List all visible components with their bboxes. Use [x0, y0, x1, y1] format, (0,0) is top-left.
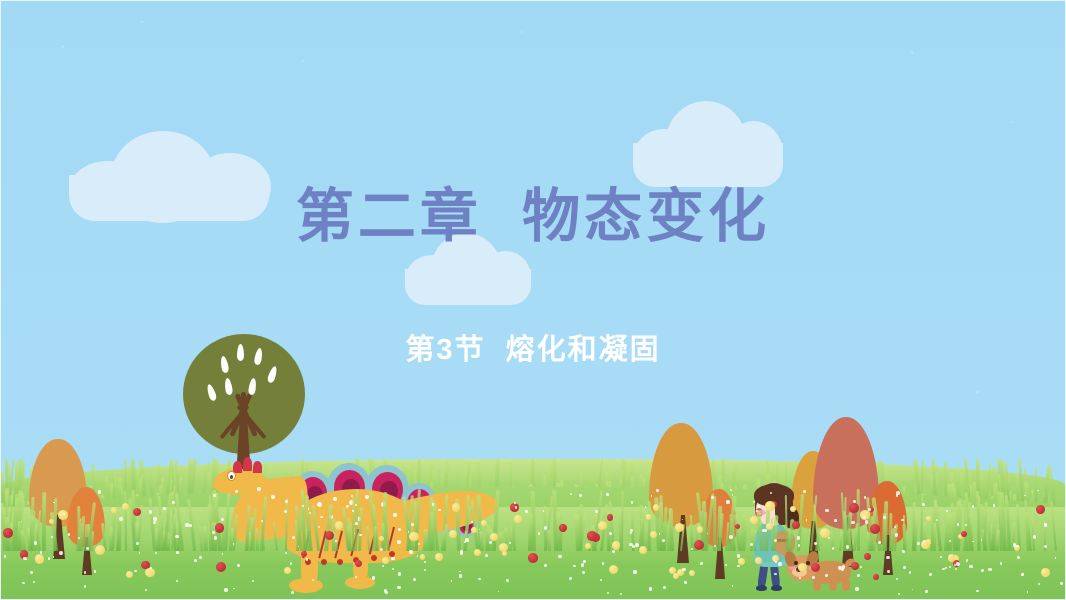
grass-sparkle	[372, 576, 376, 580]
grass-berry	[481, 520, 487, 526]
girl-shoe	[756, 585, 767, 591]
grass-sparkle	[155, 552, 157, 554]
grass-blade	[1016, 504, 1021, 551]
grass-sparkle	[1000, 562, 1003, 565]
grass-blade	[1024, 512, 1030, 551]
grass-berry	[284, 567, 291, 574]
grass-sparkle	[756, 510, 758, 512]
grass-berry	[697, 526, 704, 533]
grass-sparkle	[570, 493, 572, 495]
grass-sparkle	[1044, 545, 1048, 549]
grass-sparkle	[290, 562, 293, 565]
grass-sparkle	[48, 557, 50, 559]
grass-sparkle	[969, 565, 973, 569]
grass-sparkle	[397, 540, 400, 543]
grass-sparkle	[509, 542, 511, 544]
grass-berry	[1041, 568, 1050, 577]
grass-blade	[547, 530, 550, 551]
dino-crest	[243, 457, 252, 471]
grass-sparkle	[352, 510, 354, 512]
grass-sparkle	[825, 574, 828, 577]
grass-berry	[3, 528, 13, 538]
grass-blade	[713, 496, 716, 551]
grass-sparkle	[312, 579, 314, 581]
grass-sparkle	[1016, 545, 1019, 548]
grass-sparkle	[525, 510, 528, 513]
grass-sparkle	[214, 536, 217, 539]
grass-sparkle	[630, 532, 632, 534]
grass-sparkle	[656, 489, 659, 492]
grass-berry	[765, 501, 775, 511]
title-block: 第二章 物态变化	[1, 187, 1065, 248]
grass-sparkle	[292, 536, 295, 539]
grass-berry	[587, 531, 596, 540]
grass-berry	[639, 546, 647, 554]
grass-blade	[785, 495, 788, 551]
grass-sparkle	[633, 570, 637, 574]
grass-berry	[811, 563, 820, 572]
grass-sparkle	[635, 543, 639, 547]
grass-berry	[926, 539, 932, 545]
grass-sparkle	[221, 518, 224, 521]
grass-berry	[790, 506, 796, 512]
grass-sparkle	[595, 510, 598, 513]
grass-sparkle	[898, 593, 900, 595]
grass-sparkle	[956, 562, 960, 566]
main-title: 第二章 物态变化	[1, 187, 1065, 248]
grass-berry	[449, 530, 457, 538]
grass-berry	[111, 507, 117, 513]
grass-sparkle	[424, 561, 426, 563]
dino-foot	[289, 578, 323, 593]
grass-sparkle	[764, 529, 767, 532]
grass-blade	[754, 530, 757, 551]
grass-berry	[961, 531, 967, 537]
grass-sparkle	[1033, 535, 1037, 539]
sky-speck	[141, 21, 143, 23]
grass-sparkle	[903, 566, 906, 569]
grass-berry	[379, 536, 385, 542]
sky-speck	[61, 45, 64, 48]
grass-blade	[528, 513, 533, 551]
grass-sparkle	[886, 556, 890, 560]
grass-sparkle	[865, 520, 869, 524]
grass-sparkle	[459, 574, 462, 577]
dino-quill-tip	[321, 559, 327, 565]
grass-sparkle	[757, 505, 760, 508]
grass-blade	[255, 528, 259, 551]
grass-sparkle	[134, 570, 137, 573]
grass-sparkle	[612, 550, 615, 553]
grass-sparkle	[199, 556, 202, 559]
grass-berry	[559, 524, 567, 532]
grass-sparkle	[912, 589, 914, 591]
grass-blade	[42, 492, 46, 551]
grass-berry	[409, 532, 419, 542]
grass-sparkle	[59, 551, 63, 555]
grass-sparkle	[285, 552, 287, 554]
grass-berry	[435, 553, 443, 561]
grass-sparkle	[1024, 495, 1026, 497]
grass-sparkle	[22, 582, 25, 585]
grass-sparkle	[799, 577, 801, 579]
grass-sparkle	[33, 581, 35, 583]
grass-sparkle	[459, 571, 460, 572]
grass-blade	[1050, 501, 1057, 551]
grass-berry	[35, 554, 45, 564]
grass-sparkle	[544, 526, 548, 530]
grass-blade	[203, 526, 208, 551]
grass-berry	[95, 545, 105, 555]
grass-sparkle	[878, 541, 881, 544]
grass-sparkle	[573, 565, 575, 567]
grass-sparkle	[424, 569, 426, 571]
grass-sparkle	[857, 574, 860, 577]
grass-sparkle	[714, 545, 716, 547]
grass-blade	[358, 507, 362, 551]
grass-sparkle	[798, 544, 801, 547]
grass-sparkle	[925, 590, 928, 593]
grass-sparkle	[409, 550, 413, 554]
grass-berry	[948, 554, 955, 561]
grass-sparkle	[359, 534, 361, 536]
grass-sparkle	[335, 540, 337, 542]
grass-sparkle	[957, 523, 959, 525]
grass-sparkle	[620, 593, 622, 595]
dog-eye	[806, 561, 810, 565]
dog-cheek	[789, 566, 796, 570]
grass-sparkle	[684, 581, 687, 584]
grass-sparkle	[860, 566, 862, 568]
grass-blade	[117, 507, 121, 551]
grass-blade	[970, 514, 973, 551]
sky-speck	[521, 31, 523, 33]
grass-sparkle	[711, 496, 714, 499]
grass-berry	[585, 543, 591, 549]
grass-sparkle	[233, 588, 235, 590]
grass-berry	[650, 531, 657, 538]
grass-sparkle	[1017, 556, 1019, 558]
grass-blade	[882, 513, 887, 551]
grass-blade	[479, 530, 484, 551]
grass-berry	[471, 527, 477, 533]
grass-sparkle	[581, 563, 584, 566]
grass-blade	[20, 530, 26, 551]
grass-sparkle	[119, 517, 123, 521]
grass-blade	[647, 501, 650, 551]
presentation-slide: 第二章 物态变化 第3节 熔化和凝固	[0, 0, 1066, 600]
dino-quill-tip	[337, 559, 343, 565]
grass-blade	[367, 525, 371, 551]
grass-blades-front	[1, 489, 1066, 551]
sky-speck	[911, 51, 914, 54]
grass-sparkle	[797, 536, 800, 539]
grass-sparkle	[1013, 543, 1017, 547]
grass-berry	[122, 503, 129, 510]
grass-berry	[873, 574, 879, 580]
grass-blade	[260, 496, 267, 551]
grass-sparkle	[700, 562, 703, 565]
dino-crest	[253, 461, 262, 473]
grass-sparkle	[834, 519, 837, 522]
cloud-right	[633, 101, 783, 187]
grass-sparkle	[94, 570, 96, 572]
grass-sparkle	[465, 538, 469, 542]
grass-sparkle	[355, 522, 358, 525]
grass-sparkle	[569, 577, 572, 580]
grass-sparkle	[855, 587, 859, 591]
grass-sparkle	[774, 573, 777, 576]
grass-sparkle	[176, 551, 179, 554]
grass-berry	[215, 523, 225, 533]
grass-sparkle	[841, 568, 843, 570]
grass-berry	[335, 521, 344, 530]
sub-title: 第3节 熔化和凝固	[1, 326, 1065, 368]
grass-sparkle	[380, 548, 383, 551]
grass-berry	[528, 553, 537, 562]
grass-sparkle	[631, 501, 634, 504]
grass-berry	[133, 508, 142, 517]
grass-sparkle	[582, 571, 585, 574]
grass-sparkle	[308, 508, 310, 510]
grass-berry	[849, 503, 859, 513]
grass-blade	[124, 491, 127, 551]
grass-sparkle	[185, 523, 189, 527]
grass-sparkle	[895, 533, 899, 537]
grass-sparkle	[176, 580, 178, 582]
grass-sparkle	[23, 557, 27, 561]
grass-blade	[933, 523, 936, 551]
grass-sparkle	[825, 509, 829, 513]
grass-sparkle	[478, 578, 480, 580]
grass-berry	[738, 558, 745, 565]
grass-sparkle	[346, 505, 349, 508]
grass-berry	[145, 568, 155, 578]
grass-berry	[735, 524, 740, 529]
grass-sparkle	[949, 566, 951, 568]
grass-sparkle	[189, 524, 192, 527]
grass-sparkle	[729, 535, 733, 539]
grass-sparkle	[515, 506, 518, 509]
sky-speck	[1011, 121, 1013, 123]
grass-sparkle	[175, 535, 179, 539]
grass-sparkle	[413, 578, 416, 581]
grass-sparkle	[1038, 583, 1040, 585]
grass-blade	[148, 498, 155, 551]
grass-sparkle	[1044, 523, 1048, 527]
grass-sparkle	[902, 550, 904, 552]
grass-sparkle	[600, 579, 602, 581]
grass-berry	[453, 504, 459, 510]
grass-sparkle	[397, 586, 401, 590]
grass-blade	[17, 521, 20, 551]
grass-sparkle	[284, 510, 287, 513]
grass-berry	[755, 557, 762, 564]
grass-sparkle	[149, 510, 152, 513]
grass-sparkle	[145, 589, 148, 592]
grass-sparkle	[606, 493, 609, 496]
grass-berry	[870, 524, 880, 534]
grass-berry	[474, 549, 481, 556]
grass-sparkle	[212, 531, 215, 534]
grass-sparkle	[976, 590, 979, 593]
grass-berry	[612, 541, 620, 549]
grass-berry	[514, 515, 522, 523]
dino-pupil	[230, 475, 233, 479]
grass-sparkle	[224, 588, 228, 592]
grass-berry	[798, 563, 807, 572]
grass-berry	[490, 533, 498, 541]
grass-sparkle	[737, 554, 741, 558]
grass-blade	[913, 514, 918, 551]
sky-speck	[301, 59, 304, 62]
grass-sparkle	[609, 532, 612, 535]
grass-blade	[273, 521, 279, 551]
grass-blade	[857, 489, 860, 551]
grass-sparkle	[732, 494, 734, 496]
grass-sparkle	[929, 573, 932, 576]
grass-sparkle	[972, 541, 974, 543]
grass-sparkle	[382, 565, 384, 567]
grass-sparkle	[682, 568, 686, 572]
sky-speck	[976, 391, 979, 394]
grass-sparkle	[385, 591, 388, 594]
grass-sparkle	[583, 560, 586, 563]
grass-sparkle	[726, 500, 730, 504]
grass-sparkle	[778, 562, 782, 566]
grass-sparkle	[471, 521, 473, 523]
grass-sparkle	[417, 555, 419, 557]
grass-sparkle	[770, 492, 772, 494]
grass-sparkle	[946, 510, 948, 512]
grass-sparkle	[883, 516, 886, 519]
grass-sparkle	[828, 537, 830, 539]
grass-blade	[352, 497, 354, 551]
dino-foot	[345, 576, 375, 589]
grass-sparkle	[864, 496, 867, 499]
grass-sparkle	[544, 564, 547, 567]
dino-quill-tip	[371, 555, 377, 561]
grass-sparkle	[901, 519, 903, 521]
dog-eye	[794, 561, 798, 565]
grass-sparkle	[391, 557, 395, 561]
grass-blade	[285, 498, 288, 551]
girl-shoe	[771, 585, 782, 591]
grass-sparkle	[514, 502, 516, 504]
grass-sparkle	[261, 520, 263, 522]
grass-berry	[766, 523, 773, 530]
grass-sparkle	[630, 529, 633, 532]
grass-sparkle	[150, 567, 152, 569]
grass-blade	[312, 505, 320, 551]
